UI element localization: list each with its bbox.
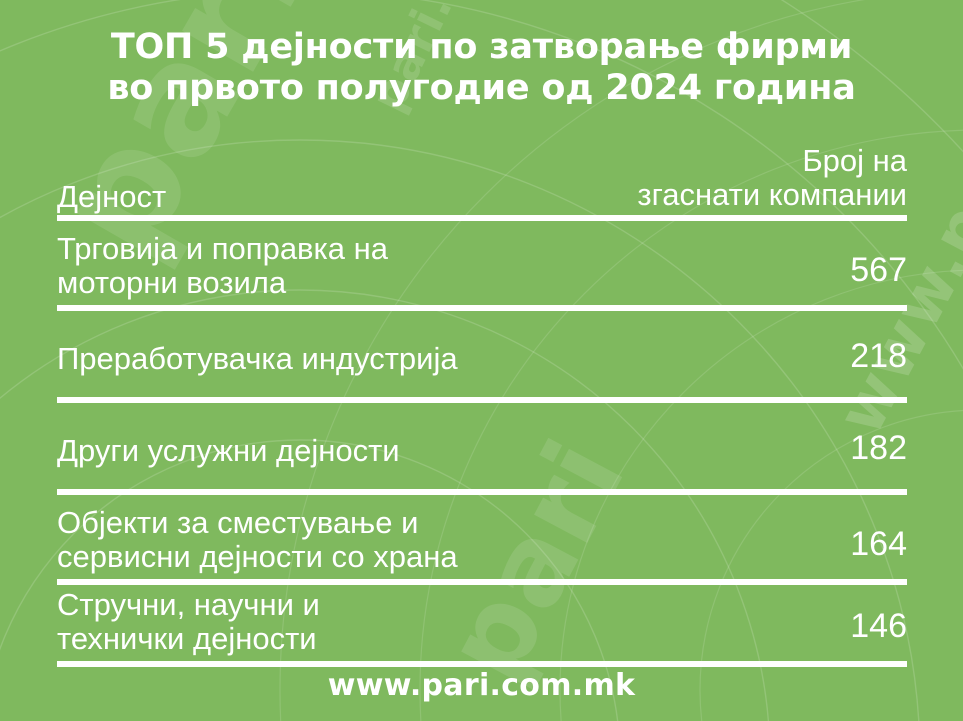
ranking-table: Дејност Број на згаснати компании Тргови…	[57, 150, 907, 667]
row-label: Стручни, научни и технички дејности	[57, 588, 320, 661]
row-label: Објекти за сместување и сервисни дејност…	[57, 506, 458, 579]
row-value: 182	[850, 430, 907, 489]
row-value: 146	[850, 608, 907, 661]
column-header-activity: Дејност	[57, 180, 166, 215]
column-header-count: Број на згаснати компании	[637, 144, 907, 215]
infographic-content: ТОП 5 дејности по затворање фирми во прв…	[0, 0, 963, 721]
table-row: Објекти за сместување и сервисни дејност…	[57, 495, 907, 585]
row-label: Преработувачка индустрија	[57, 342, 458, 397]
table-row: Стручни, научни и технички дејности 146	[57, 585, 907, 667]
row-value: 218	[850, 338, 907, 397]
table-row: Трговија и поправка на моторни возила 56…	[57, 221, 907, 311]
row-value: 567	[850, 252, 907, 305]
footer-website: www.pari.com.mk	[0, 668, 963, 703]
row-label: Трговија и поправка на моторни возила	[57, 232, 388, 305]
page-title: ТОП 5 дејности по затворање фирми во прв…	[0, 27, 963, 110]
row-label: Други услужни дејности	[57, 434, 400, 489]
table-row: Други услужни дејности 182	[57, 403, 907, 495]
table-row: Преработувачка индустрија 218	[57, 311, 907, 403]
table-header-row: Дејност Број на згаснати компании	[57, 150, 907, 221]
infographic-canvas: pari pari.com.mk www.pari pari ТОП 5 деј…	[0, 0, 963, 721]
row-value: 164	[850, 526, 907, 579]
